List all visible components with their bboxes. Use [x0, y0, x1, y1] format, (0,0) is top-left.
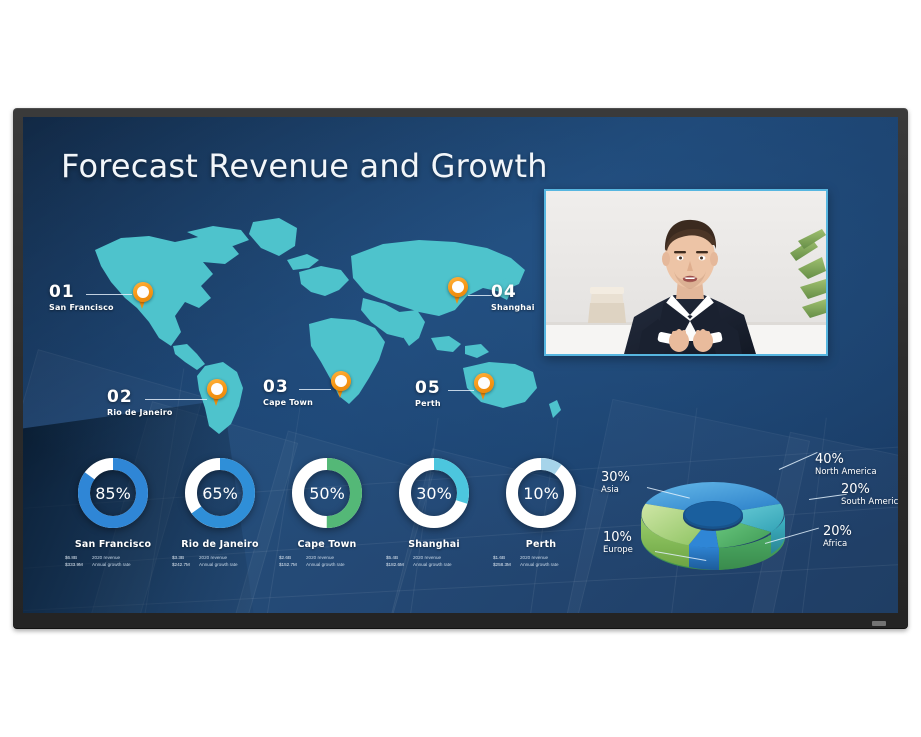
- location-pin-icon: [133, 282, 153, 302]
- kpi-revenue-label: 2020 revenue: [306, 555, 334, 560]
- kpi-revenue-label: 2020 revenue: [92, 555, 120, 560]
- kpi-growth-line: $242.7M Annual growth rate: [172, 562, 238, 567]
- map-marker-02[interactable]: [207, 379, 227, 407]
- kpi-revenue-line: $2.6B 2020 revenue: [279, 555, 334, 560]
- pie-percent: 30%: [601, 471, 630, 485]
- kpi-revenue-value: $5.4B: [386, 555, 407, 560]
- pie-percent: 40%: [815, 453, 877, 467]
- leader-line-05: [448, 390, 474, 391]
- kpi-growth-line: $152.7M Annual growth rate: [279, 562, 345, 567]
- pie-region: South America: [841, 497, 898, 507]
- kpi-donut: 10%: [505, 457, 577, 529]
- map-callout-04[interactable]: 04 Shanghai: [491, 284, 535, 312]
- callout-city: San Francisco: [49, 303, 114, 312]
- presenter-video-tile[interactable]: [544, 189, 828, 356]
- kpi-growth-line: $258.3M Annual growth rate: [493, 562, 559, 567]
- kpi-growth-label: Annual growth rate: [520, 562, 559, 567]
- kpi-growth-label: Annual growth rate: [413, 562, 452, 567]
- kpi-growth-label: Annual growth rate: [306, 562, 345, 567]
- kpi-revenue-label: 2020 revenue: [520, 555, 548, 560]
- kpi-donut: 85%: [77, 457, 149, 529]
- pie-label-asia: 30% Asia: [601, 471, 630, 495]
- kpi-stats: $1.6B 2020 revenue $258.3M Annual growth…: [493, 555, 589, 567]
- pie-region: Europe: [603, 545, 633, 555]
- page-title: Forecast Revenue and Growth: [61, 147, 548, 185]
- map-marker-01[interactable]: [133, 282, 153, 310]
- callout-number: 03: [263, 379, 313, 396]
- location-pin-icon: [474, 373, 494, 393]
- pie-region: Asia: [601, 485, 630, 495]
- kpi-percent: 65%: [184, 457, 256, 529]
- kpi-revenue-line: $3.3B 2020 revenue: [172, 555, 227, 560]
- callout-city: Rio de Janeiro: [107, 408, 173, 417]
- map-marker-03[interactable]: [331, 371, 351, 399]
- pie-region: Africa: [823, 539, 852, 549]
- kpi-percent: 85%: [77, 457, 149, 529]
- kpi-percent: 30%: [398, 457, 470, 529]
- kpi-stats: $3.3B 2020 revenue $242.7M Annual growth…: [172, 555, 268, 567]
- kpi-growth-label: Annual growth rate: [92, 562, 131, 567]
- kpi-donut: 50%: [291, 457, 363, 529]
- kpi-city-label: Perth: [493, 539, 589, 550]
- kpi-city-label: San Francisco: [65, 539, 161, 550]
- pie-percent: 20%: [841, 483, 898, 497]
- map-callout-02[interactable]: 02 Rio de Janeiro: [107, 389, 173, 417]
- kpi-card-cape-town[interactable]: 50% Cape Town $2.6B 2020 revenue $152.7M…: [279, 457, 375, 567]
- kpi-revenue-line: $5.4B 2020 revenue: [386, 555, 441, 560]
- kpi-growth-line: $333.9M Annual growth rate: [65, 562, 131, 567]
- kpi-revenue-line: $1.6B 2020 revenue: [493, 555, 548, 560]
- kpi-city-label: Shanghai: [386, 539, 482, 550]
- kpi-stats: $2.6B 2020 revenue $152.7M Annual growth…: [279, 555, 375, 567]
- presentation-screen: Forecast Revenue and Growth: [23, 117, 898, 613]
- callout-number: 02: [107, 389, 173, 406]
- pie-percent: 10%: [603, 531, 633, 545]
- pie-label-north-america: 40% North America: [815, 453, 877, 477]
- kpi-revenue-value: $2.6B: [279, 555, 300, 560]
- kpi-donut-row: 85% San Francisco $6.8B 2020 revenue $33…: [65, 457, 565, 602]
- kpi-growth-value: $152.7M: [279, 562, 300, 567]
- kpi-percent: 10%: [505, 457, 577, 529]
- kpi-card-perth[interactable]: 10% Perth $1.6B 2020 revenue $258.3M Ann…: [493, 457, 589, 567]
- pie-label-south-america: 20% South America: [841, 483, 898, 507]
- kpi-stats: $6.8B 2020 revenue $333.9M Annual growth…: [65, 555, 161, 567]
- callout-city: Perth: [415, 399, 441, 408]
- callout-number: 04: [491, 284, 535, 301]
- kpi-donut: 65%: [184, 457, 256, 529]
- leader-line-04: [468, 295, 492, 296]
- kpi-growth-line: $182.6M Annual growth rate: [386, 562, 452, 567]
- location-pin-icon: [331, 371, 351, 391]
- display-brand-mark: [872, 621, 886, 626]
- pie-label-africa: 20% Africa: [823, 525, 852, 549]
- kpi-growth-value: $242.7M: [172, 562, 193, 567]
- pie-region: North America: [815, 467, 877, 477]
- kpi-revenue-label: 2020 revenue: [199, 555, 227, 560]
- kpi-donut: 30%: [398, 457, 470, 529]
- kpi-card-san-francisco[interactable]: 85% San Francisco $6.8B 2020 revenue $33…: [65, 457, 161, 567]
- kpi-growth-value: $258.3M: [493, 562, 514, 567]
- pie-percent: 20%: [823, 525, 852, 539]
- presenter-photo: [546, 191, 826, 354]
- map-marker-05[interactable]: [474, 373, 494, 401]
- kpi-growth-value: $182.6M: [386, 562, 407, 567]
- region-share-pie-chart: 40% North America 20% South America 20% …: [593, 447, 893, 597]
- kpi-stats: $5.4B 2020 revenue $182.6M Annual growth…: [386, 555, 482, 567]
- map-callout-03[interactable]: 03 Cape Town: [263, 379, 313, 407]
- map-callout-01[interactable]: 01 San Francisco: [49, 284, 114, 312]
- pie-label-europe: 10% Europe: [603, 531, 633, 555]
- kpi-revenue-value: $6.8B: [65, 555, 86, 560]
- kpi-card-rio-de-janeiro[interactable]: 65% Rio de Janeiro $3.3B 2020 revenue $2…: [172, 457, 268, 567]
- kpi-revenue-line: $6.8B 2020 revenue: [65, 555, 120, 560]
- map-callout-05[interactable]: 05 Perth: [415, 380, 441, 408]
- kpi-city-label: Rio de Janeiro: [172, 539, 268, 550]
- kpi-card-shanghai[interactable]: 30% Shanghai $5.4B 2020 revenue $182.6M …: [386, 457, 482, 567]
- kpi-city-label: Cape Town: [279, 539, 375, 550]
- kpi-revenue-label: 2020 revenue: [413, 555, 441, 560]
- screenshot-root: Forecast Revenue and Growth: [0, 0, 921, 737]
- display-monitor: Forecast Revenue and Growth: [13, 108, 908, 629]
- kpi-revenue-value: $3.3B: [172, 555, 193, 560]
- kpi-growth-value: $333.9M: [65, 562, 86, 567]
- callout-city: Cape Town: [263, 398, 313, 407]
- location-pin-icon: [207, 379, 227, 399]
- callout-number: 05: [415, 380, 441, 397]
- location-pin-icon: [448, 277, 468, 297]
- kpi-revenue-value: $1.6B: [493, 555, 514, 560]
- kpi-growth-label: Annual growth rate: [199, 562, 238, 567]
- callout-city: Shanghai: [491, 303, 535, 312]
- callout-number: 01: [49, 284, 114, 301]
- kpi-percent: 50%: [291, 457, 363, 529]
- map-marker-04[interactable]: [448, 277, 468, 305]
